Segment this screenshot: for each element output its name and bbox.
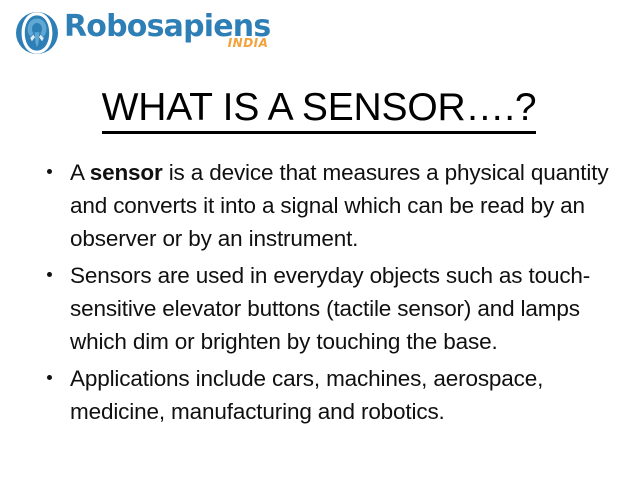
bullet-1-bold-term: sensor (90, 160, 163, 185)
slide-title: WHAT IS A SENSOR….? (0, 86, 638, 134)
bullet-dot-icon (47, 169, 52, 174)
bullet-text-3: Applications include cars, machines, aer… (70, 362, 620, 428)
brand-sub-wordmark: INDIA (228, 37, 269, 49)
slide-canvas: Robosapiens INDIA WHAT IS A SENSOR….? A … (0, 0, 638, 479)
brand-logo: Robosapiens INDIA (14, 10, 270, 58)
bullet-text-1: A sensor is a device that measures a phy… (70, 156, 620, 255)
bullet-dot-icon (47, 272, 52, 277)
bullet-item-2: Sensors are used in everyday objects suc… (40, 259, 620, 358)
bullet-dot-icon (47, 375, 52, 380)
robosapiens-robot-head-logo-icon (14, 10, 60, 56)
bullet-1-lead: A (70, 160, 90, 185)
brand-wordmark-wrap: Robosapiens INDIA (64, 10, 270, 43)
bullet-item-3: Applications include cars, machines, aer… (40, 362, 620, 428)
bullet-text-2: Sensors are used in everyday objects suc… (70, 259, 620, 358)
bullet-item-1: A sensor is a device that measures a phy… (40, 156, 620, 255)
slide-title-text: WHAT IS A SENSOR….? (102, 86, 537, 134)
bullet-list: A sensor is a device that measures a phy… (40, 156, 620, 428)
